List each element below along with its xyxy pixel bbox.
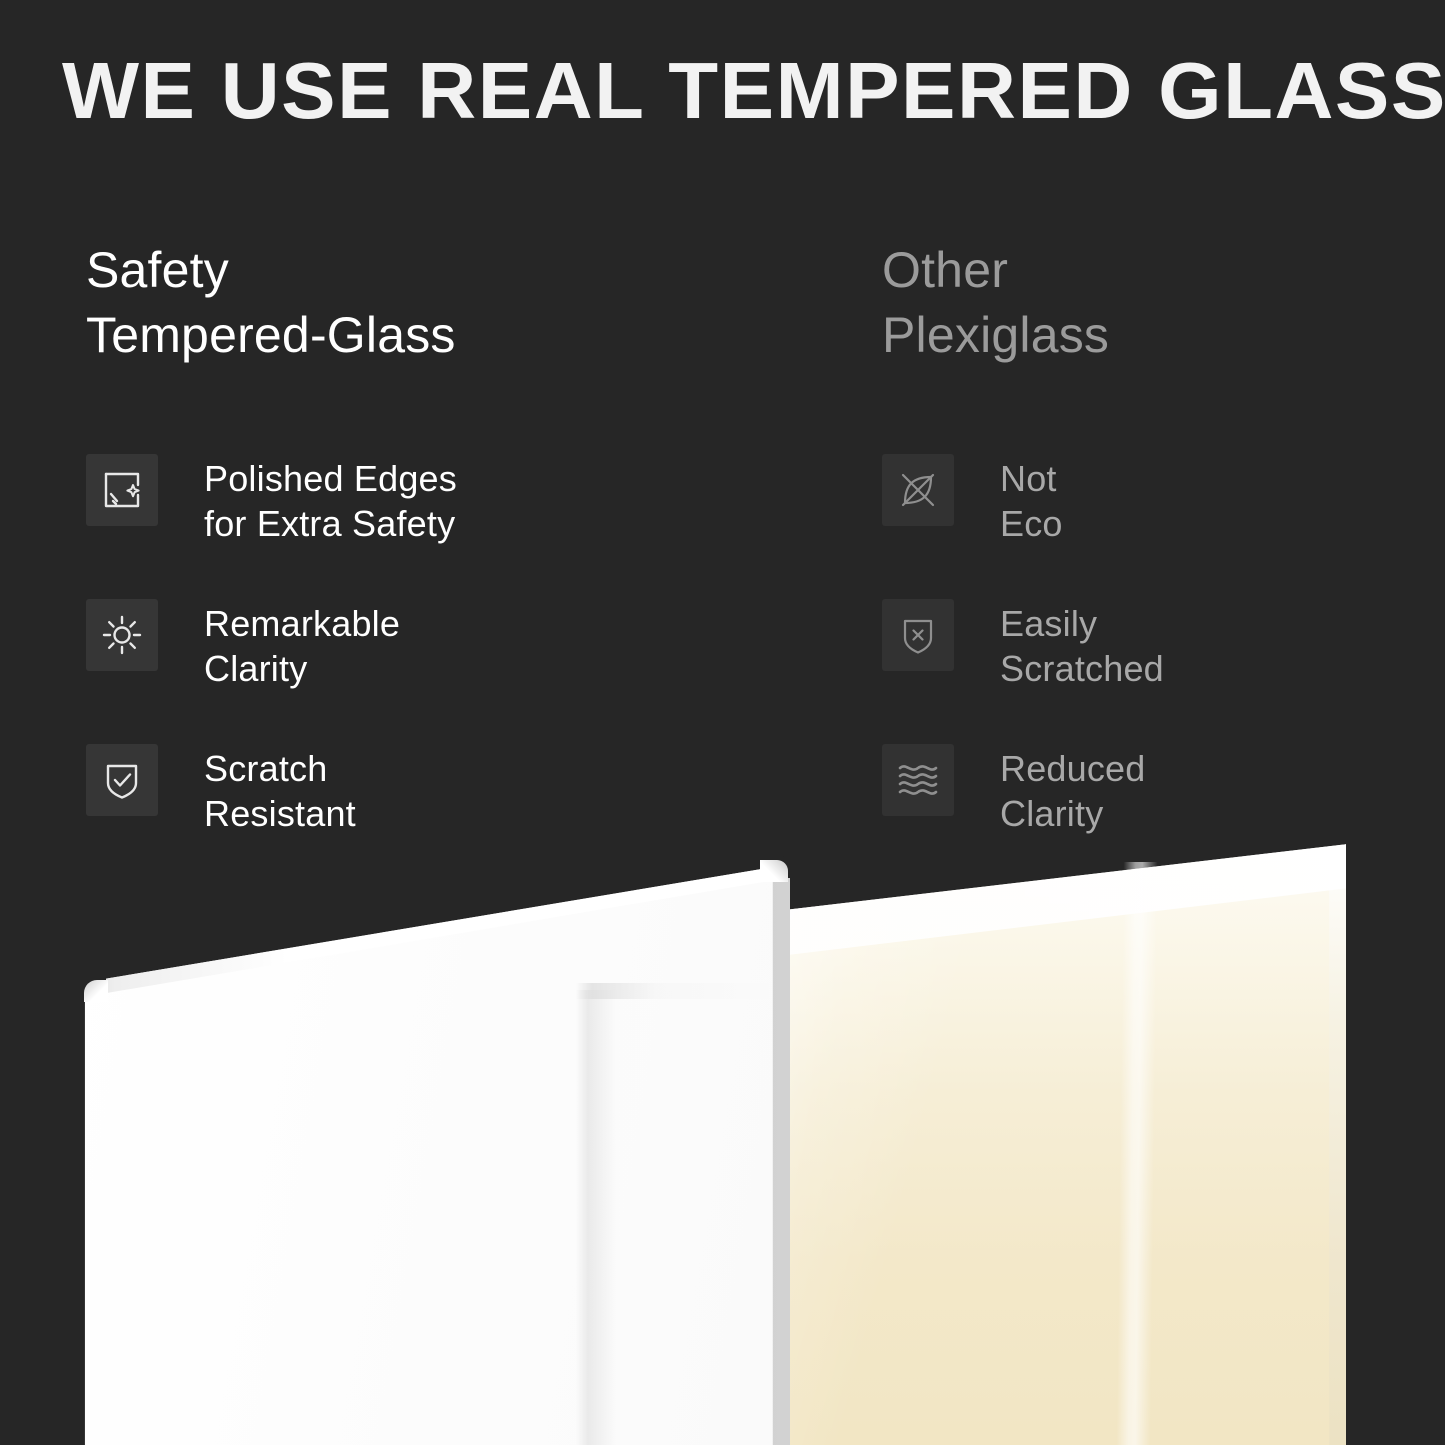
column-heading-right: Other Plexiglass	[882, 238, 1445, 368]
shield-check-icon	[86, 744, 158, 816]
tempered-glass-panel-reflection-band	[576, 990, 776, 1445]
feature-label: Remarkable Clarity	[204, 595, 400, 691]
shield-x-icon	[882, 599, 954, 671]
column-other-plexiglass: Other Plexiglass Not Eco	[882, 238, 1445, 368]
plexiglass-panel-reflection-band	[1116, 862, 1157, 1445]
tempered-glass-panel-top-right-corner-highlight	[760, 860, 788, 882]
feature-label: Not Eco	[1000, 450, 1063, 546]
feature-label: Polished Edges for Extra Safety	[204, 450, 457, 546]
polished-glass-sparkle-icon	[86, 454, 158, 526]
page-title: WE USE REAL TEMPERED GLASS	[62, 45, 1419, 137]
column-safety-tempered-glass: Safety Tempered-Glass Polished Edges for…	[86, 238, 686, 368]
feature-list-right: Not Eco Easily Scratched	[882, 450, 1445, 885]
glass-panels-image	[0, 840, 1445, 1445]
tempered-glass-panel-reflection-band-top	[576, 983, 776, 999]
feature-label: Easily Scratched	[1000, 595, 1164, 691]
feature-row-polished-edges: Polished Edges for Extra Safety	[86, 450, 686, 595]
feature-list-left: Polished Edges for Extra Safety Remarkab…	[86, 450, 686, 885]
column-heading-left: Safety Tempered-Glass	[86, 238, 686, 368]
tempered-glass-comparison-infographic: WE USE REAL TEMPERED GLASS Safety Temper…	[0, 0, 1445, 1445]
feature-row-not-eco: Not Eco	[882, 450, 1445, 595]
feature-label: Reduced Clarity	[1000, 740, 1146, 836]
sun-clarity-icon	[86, 599, 158, 671]
leaf-crossed-out-icon	[882, 454, 954, 526]
feature-label: Scratch Resistant	[204, 740, 356, 836]
wavy-lines-icon	[882, 744, 954, 816]
feature-row-remarkable-clarity: Remarkable Clarity	[86, 595, 686, 740]
tempered-glass-panel-top-left-corner-highlight	[84, 980, 108, 1002]
feature-row-easily-scratched: Easily Scratched	[882, 595, 1445, 740]
